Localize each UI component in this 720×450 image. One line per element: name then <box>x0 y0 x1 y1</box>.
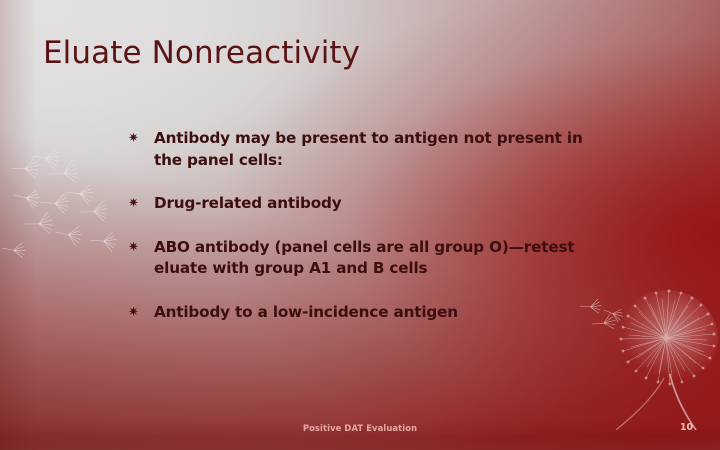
list-item: ✷ Antibody may be present to antigen not… <box>128 128 596 171</box>
list-item-label: Drug-related antibody <box>154 193 596 215</box>
bullet-star-icon: ✷ <box>128 305 154 318</box>
list-item: ✷ Antibody to a low-incidence antigen <box>128 302 596 324</box>
list-item-label: ABO antibody (panel cells are all group … <box>154 237 596 280</box>
list-item: ✷ ABO antibody (panel cells are all grou… <box>128 237 596 280</box>
page-title: Eluate Nonreactivity <box>43 36 663 71</box>
list-item: ✷ Drug-related antibody <box>128 193 596 215</box>
list-item-label: Antibody may be present to antigen not p… <box>154 128 596 171</box>
bullet-star-icon: ✷ <box>128 196 154 209</box>
footer-note: Positive DAT Evaluation <box>0 423 720 433</box>
page-number: 10 <box>680 422 693 433</box>
bullet-star-icon: ✷ <box>128 131 154 144</box>
slide-canvas: Eluate Nonreactivity ✷ Antibody may be p… <box>0 0 720 450</box>
dandelion-head-icon <box>578 270 720 430</box>
dandelion-seeds-icon <box>0 140 124 275</box>
list-item-label: Antibody to a low-incidence antigen <box>154 302 596 324</box>
bullet-list: ✷ Antibody may be present to antigen not… <box>128 128 596 323</box>
bullet-star-icon: ✷ <box>128 240 154 253</box>
